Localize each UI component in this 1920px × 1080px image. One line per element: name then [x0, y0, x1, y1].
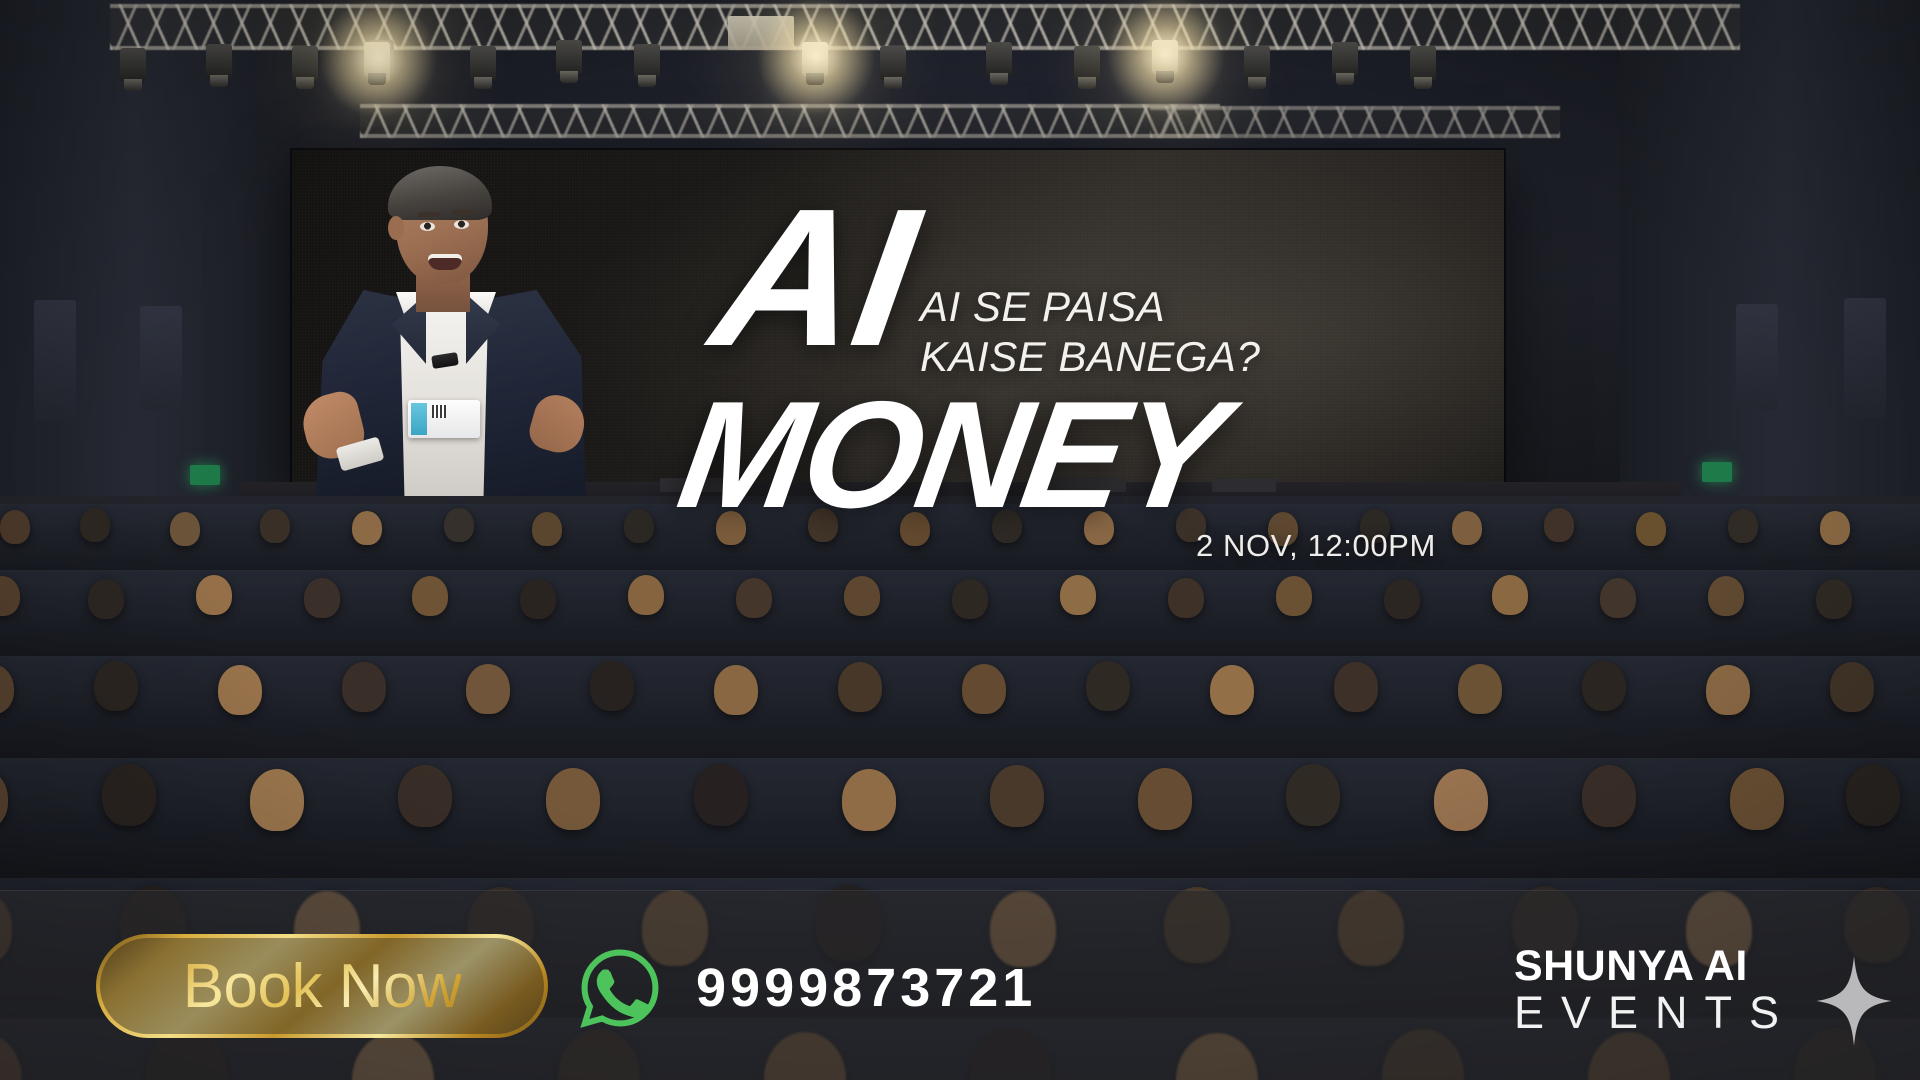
stage-light-icon: [206, 44, 232, 78]
stage-light-icon: [364, 42, 390, 76]
stage-light-icon: [1410, 46, 1436, 80]
stage-light-icon: [1074, 46, 1100, 80]
stage-light-icon: [1152, 40, 1178, 74]
stage-light-icon: [470, 46, 496, 80]
stage-monitor: [1212, 478, 1276, 492]
name-badge: [408, 400, 480, 438]
stage-light-icon: [120, 48, 146, 82]
book-now-label: Book Now: [183, 951, 462, 1022]
stage-monitor: [660, 478, 738, 492]
book-now-button[interactable]: Book Now: [96, 934, 548, 1038]
speaker-portrait: [300, 168, 600, 498]
event-poster: AI MONEY AI SE PAISA KAISE BANEGA? 2 NOV…: [0, 0, 1920, 1080]
stage-light-icon: [986, 42, 1012, 76]
rig-sign: [728, 16, 794, 50]
stage-light-icon: [880, 46, 906, 80]
whatsapp-contact[interactable]: 9999873721: [578, 946, 1036, 1030]
stage-light-icon: [634, 44, 660, 78]
whatsapp-icon[interactable]: [578, 946, 662, 1030]
four-point-star-icon: [1816, 956, 1892, 1046]
brand-lockup: SHUNYA AI EVENTS: [1514, 944, 1796, 1036]
truss-rig-icon: [1150, 106, 1560, 138]
brand-name: SHUNYA AI: [1514, 944, 1796, 989]
stage-light-icon: [556, 40, 582, 74]
brand-subline: EVENTS: [1514, 989, 1796, 1037]
stage-light-icon: [1332, 42, 1358, 76]
stage-light-icon: [802, 42, 828, 76]
truss-rig-icon: [360, 104, 1220, 138]
stage-light-icon: [292, 46, 318, 80]
phone-number[interactable]: 9999873721: [696, 957, 1036, 1019]
lighting-rig: [0, 0, 1920, 150]
bottom-action-bar: Book Now 9999873721 SHUNYA AI EVENTS: [0, 890, 1920, 1080]
truss-rig-icon: [110, 4, 1740, 50]
exit-sign-icon: [190, 465, 220, 485]
stage-monitor: [1036, 478, 1126, 492]
stage-light-icon: [1244, 46, 1270, 80]
exit-sign-icon: [1702, 462, 1732, 482]
